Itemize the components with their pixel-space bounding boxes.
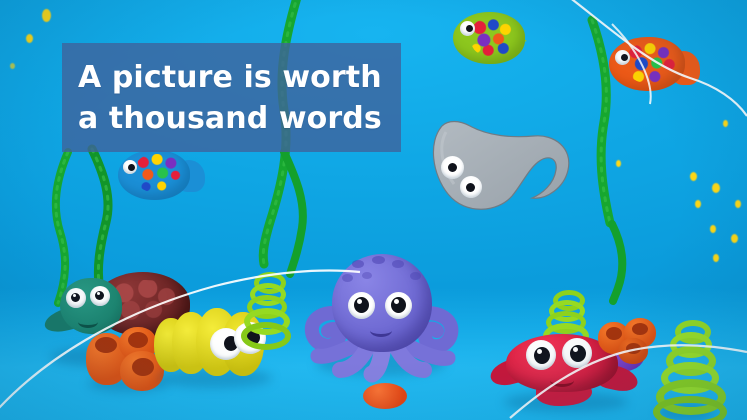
claymation-underwater-scene: A picture is worth a thousand words bbox=[0, 0, 747, 420]
quote-line-1: A picture is worth bbox=[78, 57, 385, 98]
quote-line-2: a thousand words bbox=[78, 98, 385, 139]
quote-overlay: A picture is worth a thousand words bbox=[62, 43, 401, 152]
